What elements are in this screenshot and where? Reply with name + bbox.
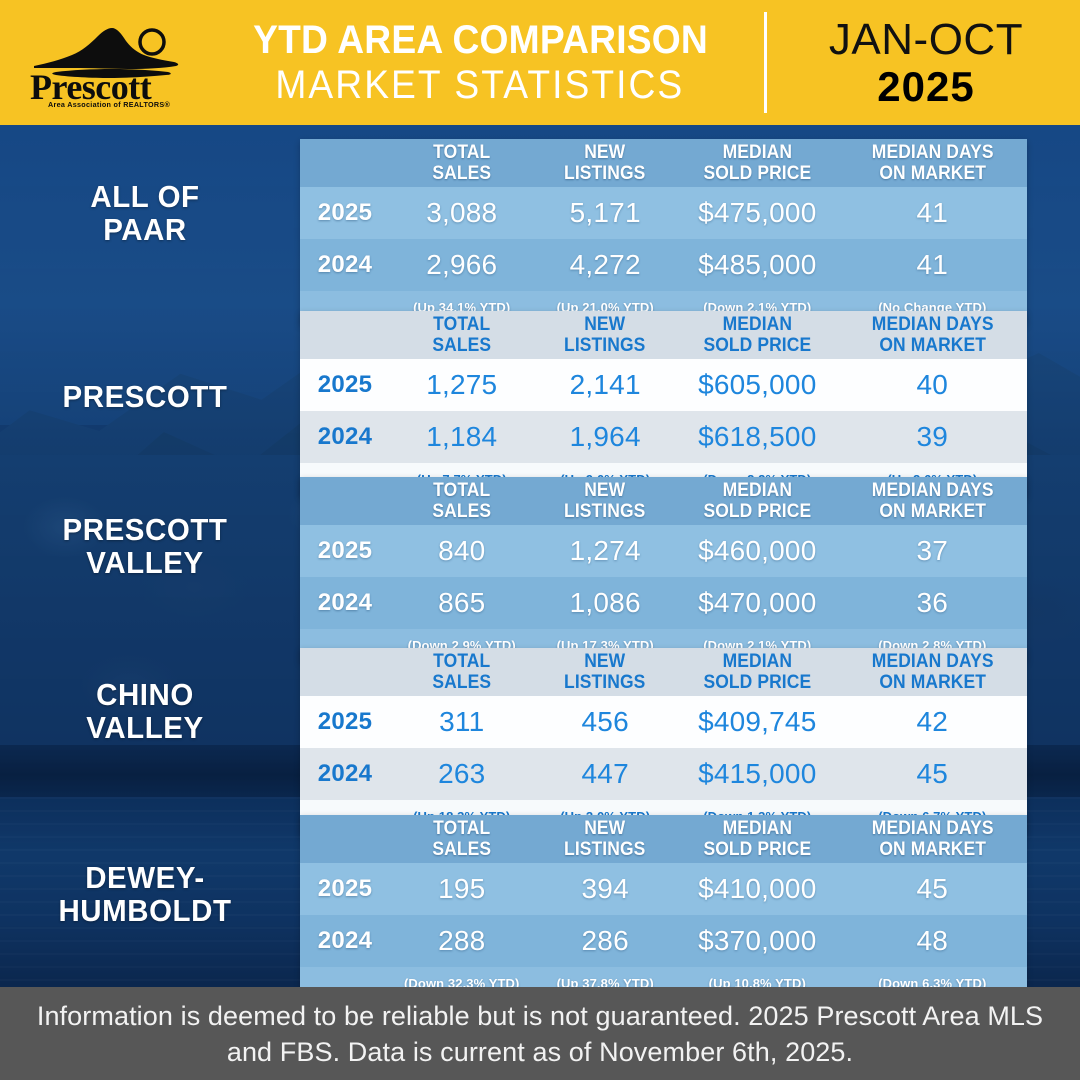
row-year-label: 2024 [318,760,373,787]
area-label-line2: HUMBOLDT [7,894,283,927]
table-header-row: TOTAL SALES NEW LISTINGS MEDIAN SOLD PRI… [300,815,1027,863]
cell-new-listings: 1,274 [570,535,641,566]
area-label-line2: PAAR [7,213,283,246]
page-header: Prescott Area Association of REALTORS® Y… [0,0,1080,125]
cell-median-days-on-market: 41 [917,197,949,228]
column-header-new-listings: NEW LISTINGS [533,480,676,522]
cell-total-sales: 865 [438,587,485,618]
table-row: 2024 288 286 $370,000 48 [300,915,1027,967]
page-title-primary: YTD AREA COMPARISON [253,18,708,62]
column-header-new-listings: NEW LISTINGS [533,314,676,356]
row-year-label: 2025 [318,708,373,735]
area-label-prescott: PRESCOTT [7,380,283,413]
row-year-label: 2025 [318,875,373,902]
cell-median-days-on-market: 39 [917,421,949,452]
table-header-row: TOTAL SALES NEW LISTINGS MEDIAN SOLD PRI… [300,139,1027,187]
area-label-line1: DEWEY- [7,861,283,894]
cell-median-sold-price: $409,745 [698,706,816,737]
disclaimer-text: Information is deemed to be reliable but… [30,998,1050,1070]
row-year-label: 2024 [318,251,373,278]
column-header-total-sales: TOTAL SALES [390,651,533,693]
cell-median-days-on-market: 36 [917,587,949,618]
table-header-row: TOTAL SALES NEW LISTINGS MEDIAN SOLD PRI… [300,648,1027,696]
cell-new-listings: 1,086 [570,587,641,618]
cell-total-sales: 840 [438,535,485,566]
column-header-median-sold-price: MEDIAN SOLD PRICE [677,480,838,522]
cell-median-days-on-market: 45 [917,758,949,789]
column-header-median-sold-price: MEDIAN SOLD PRICE [677,142,838,184]
cell-new-listings: 4,272 [570,249,641,280]
stats-table-dewey-humboldt: TOTAL SALES NEW LISTINGS MEDIAN SOLD PRI… [300,815,1027,1001]
cell-new-listings: 2,141 [570,369,641,400]
row-year-label: 2025 [318,371,373,398]
period-range: JAN-OCT [829,16,1023,64]
column-header-total-sales: TOTAL SALES [390,480,533,522]
cell-median-sold-price: $475,000 [698,197,816,228]
logo-subtitle: Area Association of REALTORS® [48,100,170,108]
cell-median-sold-price: $370,000 [698,925,816,956]
cell-total-sales: 263 [438,758,485,789]
header-title-block: YTD AREA COMPARISON MARKET STATISTICS [206,14,754,112]
cell-new-listings: 456 [582,706,629,737]
cell-median-sold-price: $410,000 [698,873,816,904]
cell-median-sold-price: $605,000 [698,369,816,400]
table-row: 2025 311 456 $409,745 42 [300,696,1027,748]
area-label-chino-valley: CHINO VALLEY [7,678,283,744]
stats-table-prescott: TOTAL SALES NEW LISTINGS MEDIAN SOLD PRI… [300,311,1027,497]
cell-median-days-on-market: 42 [917,706,949,737]
report-period-block: JAN-OCT 2025 [790,12,1062,113]
cell-median-sold-price: $618,500 [698,421,816,452]
cell-median-days-on-market: 37 [917,535,949,566]
cell-total-sales: 288 [438,925,485,956]
table-row: 2025 195 394 $410,000 45 [300,863,1027,915]
area-label-line1: PRESCOTT [7,380,283,413]
column-header-total-sales: TOTAL SALES [390,818,533,860]
period-year: 2025 [877,64,974,110]
area-label-dewey-humboldt: DEWEY- HUMBOLDT [7,861,283,927]
row-year-label: 2025 [318,199,373,226]
row-year-label: 2024 [318,423,373,450]
cell-median-sold-price: $415,000 [698,758,816,789]
cell-median-days-on-market: 48 [917,925,949,956]
column-header-median-days-on-market: MEDIAN DAYS ON MARKET [838,142,1027,184]
cell-median-sold-price: $485,000 [698,249,816,280]
table-row: 2025 840 1,274 $460,000 37 [300,525,1027,577]
table-header-row: TOTAL SALES NEW LISTINGS MEDIAN SOLD PRI… [300,311,1027,359]
column-header-median-sold-price: MEDIAN SOLD PRICE [677,651,838,693]
column-header-median-days-on-market: MEDIAN DAYS ON MARKET [838,651,1027,693]
cell-new-listings: 394 [582,873,629,904]
area-label-line2: VALLEY [7,546,283,579]
prescott-realtors-logo: Prescott Area Association of REALTORS® [26,22,196,108]
area-label-line2: VALLEY [7,711,283,744]
table-row: 2025 1,275 2,141 $605,000 40 [300,359,1027,411]
cell-new-listings: 5,171 [570,197,641,228]
stats-table-prescott-valley: TOTAL SALES NEW LISTINGS MEDIAN SOLD PRI… [300,477,1027,663]
column-header-median-sold-price: MEDIAN SOLD PRICE [677,314,838,356]
cell-median-sold-price: $460,000 [698,535,816,566]
cell-median-days-on-market: 41 [917,249,949,280]
area-label-line1: CHINO [7,678,283,711]
cell-total-sales: 3,088 [426,197,497,228]
stats-table-chino-valley: TOTAL SALES NEW LISTINGS MEDIAN SOLD PRI… [300,648,1027,834]
cell-new-listings: 447 [582,758,629,789]
cell-new-listings: 1,964 [570,421,641,452]
cell-median-days-on-market: 45 [917,873,949,904]
header-divider [764,12,767,113]
cell-total-sales: 1,184 [426,421,497,452]
row-year-label: 2024 [318,589,373,616]
column-header-median-sold-price: MEDIAN SOLD PRICE [677,818,838,860]
cell-total-sales: 1,275 [426,369,497,400]
cell-new-listings: 286 [582,925,629,956]
cell-total-sales: 195 [438,873,485,904]
page-title-secondary: MARKET STATISTICS [276,62,685,108]
row-year-label: 2024 [318,927,373,954]
table-row: 2024 1,184 1,964 $618,500 39 [300,411,1027,463]
cell-median-days-on-market: 40 [917,369,949,400]
cell-median-sold-price: $470,000 [698,587,816,618]
table-row: 2024 865 1,086 $470,000 36 [300,577,1027,629]
column-header-median-days-on-market: MEDIAN DAYS ON MARKET [838,480,1027,522]
table-row: 2024 263 447 $415,000 45 [300,748,1027,800]
row-year-label: 2025 [318,537,373,564]
stats-table-all-of-paar: TOTAL SALES NEW LISTINGS MEDIAN SOLD PRI… [300,139,1027,325]
column-header-new-listings: NEW LISTINGS [533,651,676,693]
area-label-all-of-paar: ALL OF PAAR [7,180,283,246]
table-row: 2024 2,966 4,272 $485,000 41 [300,239,1027,291]
area-label-line1: PRESCOTT [7,513,283,546]
column-header-total-sales: TOTAL SALES [390,314,533,356]
column-header-new-listings: NEW LISTINGS [533,142,676,184]
page-footer: Information is deemed to be reliable but… [0,987,1080,1080]
table-row: 2025 3,088 5,171 $475,000 41 [300,187,1027,239]
table-header-row: TOTAL SALES NEW LISTINGS MEDIAN SOLD PRI… [300,477,1027,525]
column-header-total-sales: TOTAL SALES [390,142,533,184]
column-header-median-days-on-market: MEDIAN DAYS ON MARKET [838,314,1027,356]
column-header-median-days-on-market: MEDIAN DAYS ON MARKET [838,818,1027,860]
cell-total-sales: 2,966 [426,249,497,280]
cell-total-sales: 311 [439,706,484,737]
column-header-new-listings: NEW LISTINGS [533,818,676,860]
area-label-prescott-valley: PRESCOTT VALLEY [7,513,283,579]
area-label-line1: ALL OF [7,180,283,213]
